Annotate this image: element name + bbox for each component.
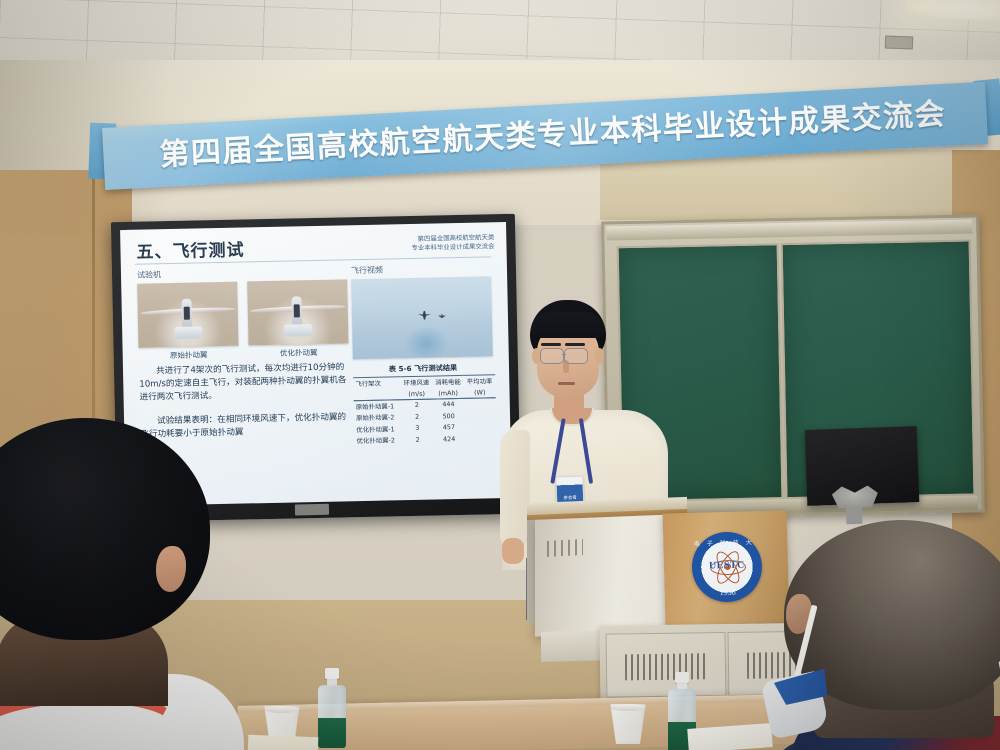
ornithopter-secondary xyxy=(438,313,446,318)
presenter-nose xyxy=(563,360,569,373)
table-caption: 表 5-6 飞行测试结果 xyxy=(353,362,493,375)
ceiling-vent xyxy=(885,36,913,50)
slide-corner-branding: 第四届全国高校航空航天类 专业本科毕业设计成果交流会 xyxy=(364,233,494,254)
audience-member-right xyxy=(762,520,1000,750)
slide-title: 五、飞行测试 xyxy=(136,235,244,262)
glasses-bridge xyxy=(562,354,566,355)
cell xyxy=(465,421,497,433)
ornithopter-in-flight xyxy=(418,311,431,320)
unit-3: (W) xyxy=(464,387,496,399)
presenter-ear-right xyxy=(595,348,604,364)
cell: 原始扑动翼-1 xyxy=(354,399,402,412)
cell: 424 xyxy=(433,433,465,445)
presenter-mouth xyxy=(558,382,575,385)
photo-caption-2: 优化扑动翼 xyxy=(249,346,349,359)
flight-video-frame xyxy=(351,276,493,359)
cell xyxy=(464,397,496,410)
cabinet-door-left xyxy=(606,632,727,698)
photo-original-flapping-wing xyxy=(137,282,238,348)
display-brand-logo xyxy=(295,504,329,516)
emblem-year: 1956 xyxy=(693,587,763,598)
th-2: 消耗电能 xyxy=(432,375,464,388)
section-label-testcraft: 试验机 xyxy=(137,269,161,281)
presentation-room-photo: 第四届全国高校航空航天类专业本科毕业设计成果交流会 五、飞行测试 第四届全国高校… xyxy=(0,0,1000,750)
audience-left-head xyxy=(0,418,210,640)
launch-base xyxy=(284,324,312,337)
cell xyxy=(465,432,497,444)
chalkboard-top-rail xyxy=(606,219,972,240)
cell: 3 xyxy=(401,422,433,434)
cell: 2 xyxy=(402,433,434,445)
th-1: 环境风速 xyxy=(401,376,433,389)
water-bottle xyxy=(318,668,346,748)
slide-paragraph-1: 共进行了4架次的飞行测试，每次均进行10分钟的10m/s的定速自主飞行，对装配两… xyxy=(139,361,354,404)
cell: 500 xyxy=(433,410,465,422)
launch-base xyxy=(174,326,202,339)
photo-caption-1: 原始扑动翼 xyxy=(139,349,239,362)
fuselage xyxy=(291,296,302,326)
bottle-label xyxy=(318,718,346,748)
unit-1: (m/s) xyxy=(401,388,433,400)
photo-optimized-flapping-wing xyxy=(247,279,348,345)
cell: 优化扑动翼-2 xyxy=(354,434,402,446)
unit-2: (mAh) xyxy=(432,387,464,399)
presenter-hand xyxy=(502,538,524,564)
cell: 2 xyxy=(401,399,433,412)
lectern-vents xyxy=(547,539,583,557)
cell: 优化扑动翼-1 xyxy=(354,423,402,435)
flight-test-results-table: 飞行架次 环境风速 消耗电能 平均功率 (m/s) (mAh) (W) 原始扑动… xyxy=(353,374,496,446)
presenter-arm xyxy=(500,430,530,546)
cell: 2 xyxy=(401,411,433,423)
cell: 原始扑动翼-2 xyxy=(354,411,402,423)
section-label-video: 飞行视频 xyxy=(351,265,383,277)
table-row: 优化扑动翼-2 2 424 xyxy=(354,432,496,446)
video-haze xyxy=(404,325,449,359)
presenter-eyebrow-left xyxy=(541,343,561,346)
bottle-body xyxy=(318,685,346,748)
fuselage xyxy=(182,299,193,329)
cell: 444 xyxy=(433,398,465,411)
cell: 457 xyxy=(433,421,465,433)
audience-member-left xyxy=(0,418,260,750)
emblem-acronym: UESTC xyxy=(692,559,762,572)
glasses-lens-left xyxy=(540,348,564,364)
presenter-fringe xyxy=(531,312,605,338)
cell xyxy=(464,409,496,421)
th-3: 平均功率 xyxy=(464,375,496,388)
uestc-emblem: 电子科技大学 UESTC 1956 xyxy=(691,531,763,603)
presenter-eyebrow-right xyxy=(565,343,585,346)
th-0: 飞行架次 xyxy=(353,377,401,390)
paper-sheet xyxy=(687,723,772,750)
slide-corner-line-2: 专业本科毕业设计成果交流会 xyxy=(364,242,494,254)
